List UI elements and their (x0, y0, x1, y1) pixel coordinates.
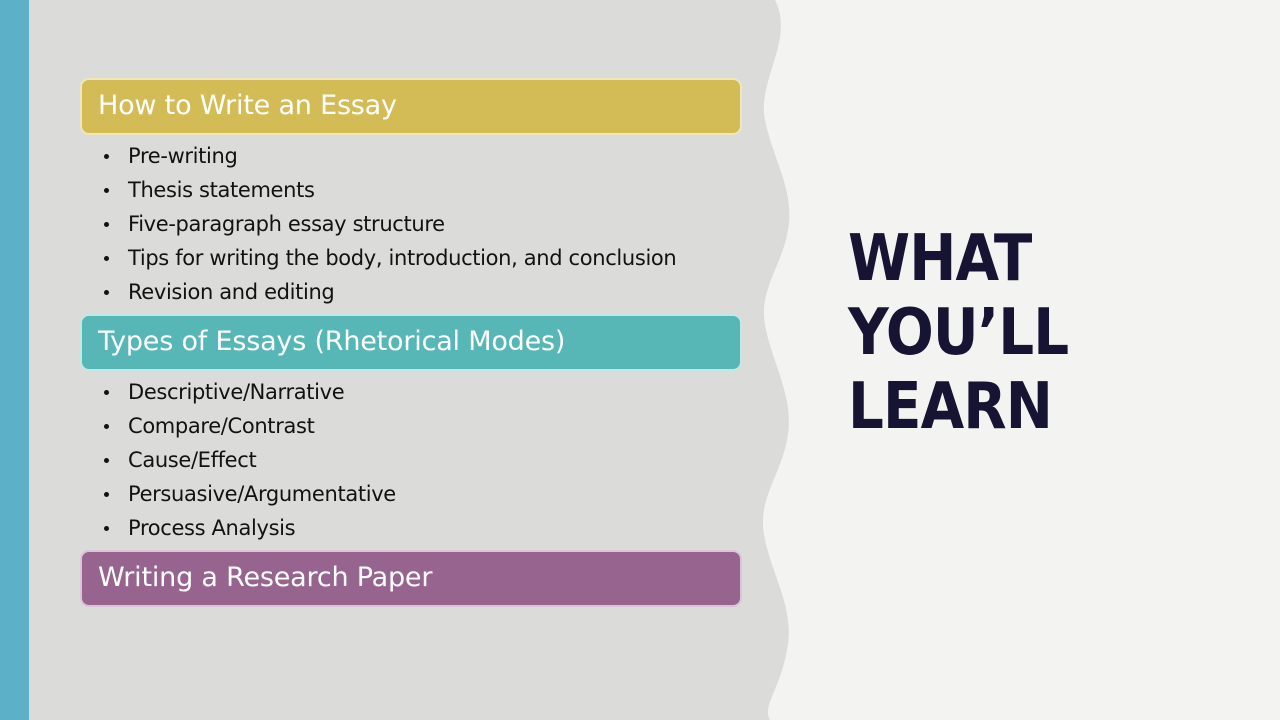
slide-canvas: How to Write an Essay Pre-writing Thesis… (0, 0, 1280, 720)
bullet-list-how-to-write-an-essay: Pre-writing Thesis statements Five-parag… (96, 141, 796, 311)
bullet-dot-icon (104, 188, 109, 193)
headline-line-2: YOU’LL (848, 296, 1138, 370)
bullet-dot-icon (104, 222, 109, 227)
list-item-label: Pre-writing (128, 144, 237, 168)
list-item: Descriptive/Narrative (96, 377, 796, 408)
list-item-label: Compare/Contrast (128, 414, 314, 438)
list-item: Revision and editing (96, 277, 796, 308)
list-item-label: Process Analysis (128, 516, 295, 540)
bullet-dot-icon (104, 424, 109, 429)
list-item-label: Cause/Effect (128, 448, 256, 472)
list-item: Thesis statements (96, 175, 796, 206)
section-header-how-to-write-an-essay[interactable]: How to Write an Essay (80, 78, 742, 135)
list-item: Persuasive/Argumentative (96, 479, 796, 510)
list-item-label: Persuasive/Argumentative (128, 482, 396, 506)
list-item-label: Revision and editing (128, 280, 334, 304)
list-item-label: Five-paragraph essay structure (128, 212, 445, 236)
slide-headline: WHAT YOU’LL LEARN (848, 222, 1178, 444)
bullet-dot-icon (104, 492, 109, 497)
list-item: Compare/Contrast (96, 411, 796, 442)
list-item: Cause/Effect (96, 445, 796, 476)
list-item: Pre-writing (96, 141, 796, 172)
list-item-label: Tips for writing the body, introduction,… (128, 246, 676, 270)
section-title-text: Types of Essays (Rhetorical Modes) (98, 328, 565, 355)
list-item: Process Analysis (96, 513, 796, 544)
bullet-dot-icon (104, 154, 109, 159)
headline-line-3: LEARN (848, 370, 1138, 444)
list-item: Five-paragraph essay structure (96, 209, 796, 240)
section-title-text: Writing a Research Paper (98, 564, 432, 591)
list-item-label: Descriptive/Narrative (128, 380, 344, 404)
bullet-list-types-of-essays: Descriptive/Narrative Compare/Contrast C… (96, 377, 796, 547)
section-title-text: How to Write an Essay (98, 92, 397, 119)
bullet-dot-icon (104, 458, 109, 463)
content-column: How to Write an Essay Pre-writing Thesis… (80, 0, 760, 720)
left-accent-stripe (0, 0, 29, 720)
list-item: Tips for writing the body, introduction,… (96, 243, 796, 274)
list-item-label: Thesis statements (128, 178, 315, 202)
headline-line-1: WHAT (848, 222, 1138, 296)
bullet-dot-icon (104, 290, 109, 295)
bullet-dot-icon (104, 526, 109, 531)
bullet-dot-icon (104, 256, 109, 261)
section-header-writing-a-research-paper[interactable]: Writing a Research Paper (80, 550, 742, 607)
bullet-dot-icon (104, 390, 109, 395)
section-header-types-of-essays[interactable]: Types of Essays (Rhetorical Modes) (80, 314, 742, 371)
